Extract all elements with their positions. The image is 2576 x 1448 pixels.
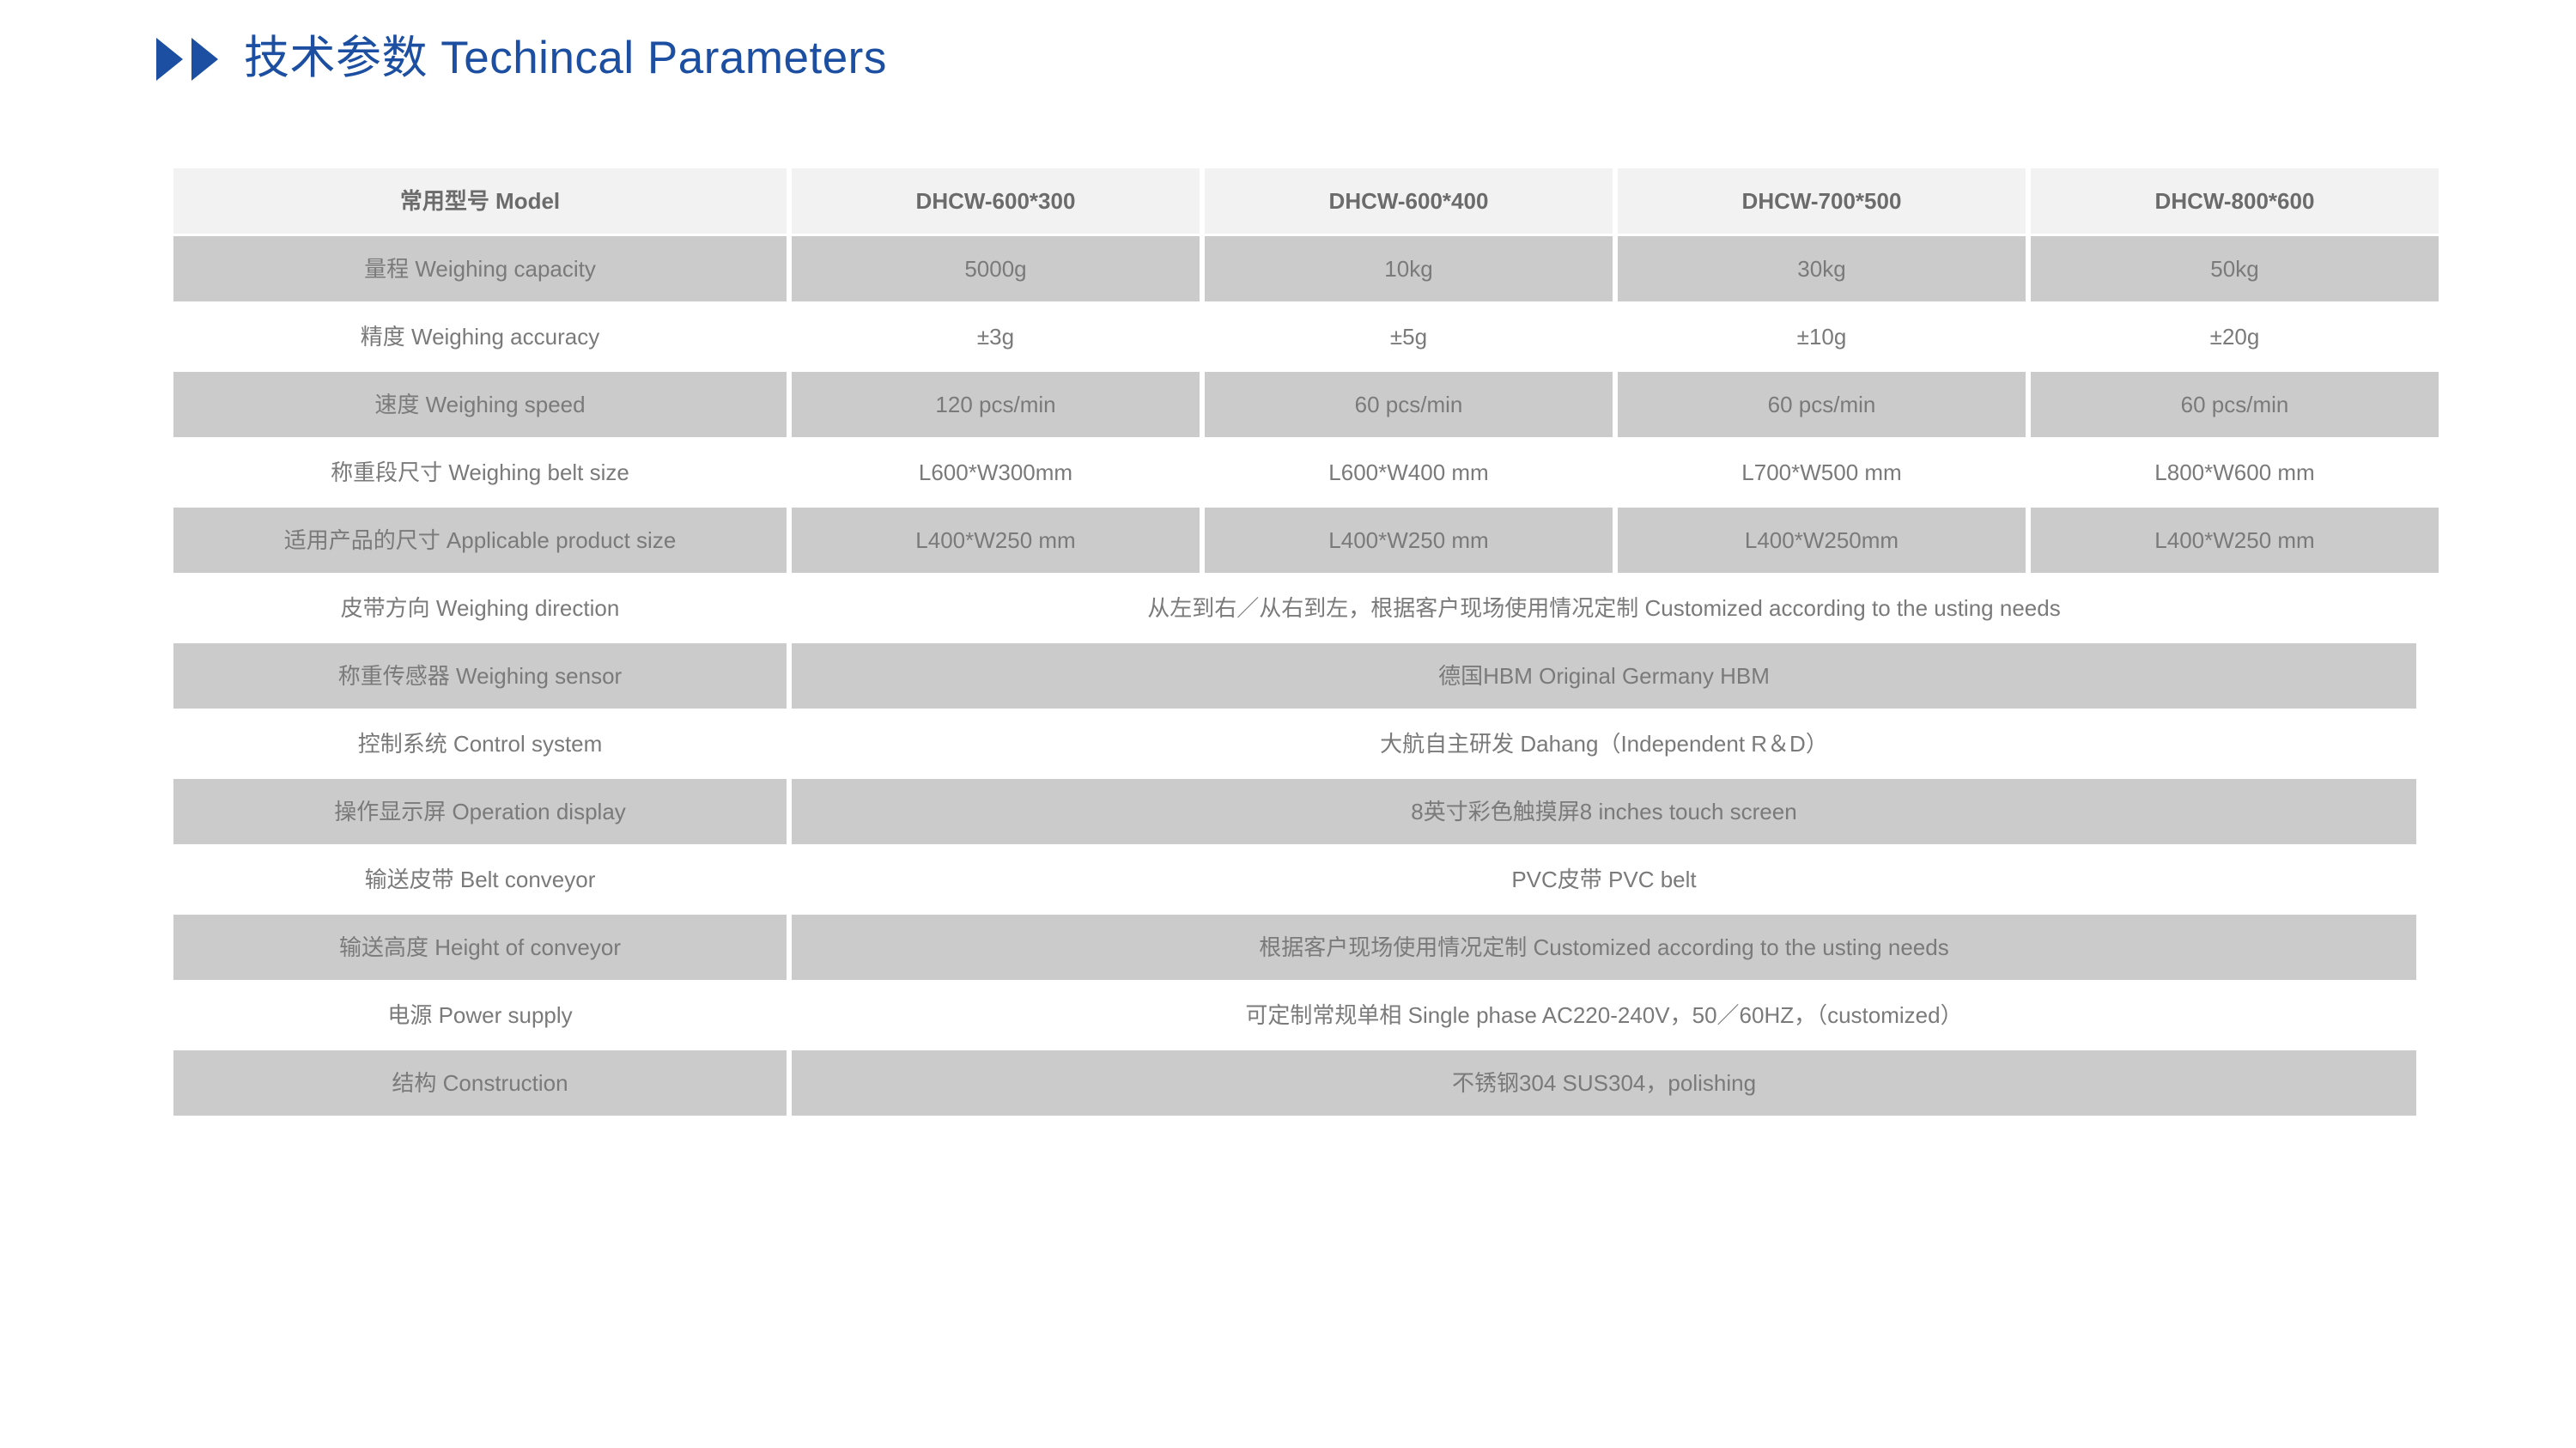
table-row: 电源 Power supply可定制常规单相 Single phase AC22… [173,983,2416,1048]
row-label: 速度 Weighing speed [173,372,787,437]
row-value: 30kg [1618,236,2026,301]
row-label: 控制系统 Control system [173,711,787,776]
page-title-block: 技术参数 Techincal Parameters [156,24,887,91]
table-row: 皮带方向 Weighing direction从左到右／从右到左，根据客户现场使… [173,575,2416,641]
table-row: 称重传感器 Weighing sensor德国HBM Original Germ… [173,643,2416,709]
row-value: L800*W600 mm [2031,440,2439,505]
row-value: L400*W250 mm [792,508,1200,573]
table-row: 称重段尺寸 Weighing belt sizeL600*W300mmL600*… [173,440,2416,505]
row-value: 60 pcs/min [1205,372,1613,437]
row-value: ±3g [792,304,1200,369]
table-row: 结构 Construction不锈钢304 SUS304，polishing [173,1050,2416,1116]
row-merged-value: 从左到右／从右到左，根据客户现场使用情况定制 Customized accord… [792,575,2416,641]
row-value: 60 pcs/min [1618,372,2026,437]
row-value: L400*W250 mm [1205,508,1613,573]
row-label: 电源 Power supply [173,983,787,1048]
row-label: 称重段尺寸 Weighing belt size [173,440,787,505]
row-value: L400*W250 mm [2031,508,2439,573]
row-merged-value: 根据客户现场使用情况定制 Customized according to the… [792,915,2416,980]
technical-parameters-table: 常用型号 ModelDHCW-600*300DHCW-600*400DHCW-7… [173,168,2416,1118]
table-row: 速度 Weighing speed120 pcs/min60 pcs/min60… [173,372,2416,437]
table-row: 精度 Weighing accuracy±3g±5g±10g±20g [173,304,2416,369]
table-row: 操作显示屏 Operation display8英寸彩色触摸屏8 inches … [173,779,2416,844]
row-label: 精度 Weighing accuracy [173,304,787,369]
row-value: 5000g [792,236,1200,301]
row-label: 输送高度 Height of conveyor [173,915,787,980]
row-label: 皮带方向 Weighing direction [173,575,787,641]
column-header-1: DHCW-600*300 [792,168,1200,234]
row-value: L700*W500 mm [1618,440,2026,505]
arrow-marker-group [156,38,218,81]
row-value: 60 pcs/min [2031,372,2439,437]
row-value: 10kg [1205,236,1613,301]
row-label: 适用产品的尺寸 Applicable product size [173,508,787,573]
row-label: 量程 Weighing capacity [173,236,787,301]
table-row: 量程 Weighing capacity5000g10kg30kg50kg [173,236,2416,301]
row-merged-value: 大航自主研发 Dahang（Independent R＆D） [792,711,2416,776]
row-value: L600*W300mm [792,440,1200,505]
table-row: 输送皮带 Belt conveyorPVC皮带 PVC belt [173,847,2416,912]
column-header-4: DHCW-800*600 [2031,168,2439,234]
row-merged-value: 8英寸彩色触摸屏8 inches touch screen [792,779,2416,844]
table-row: 输送高度 Height of conveyor根据客户现场使用情况定制 Cust… [173,915,2416,980]
table-header-row: 常用型号 ModelDHCW-600*300DHCW-600*400DHCW-7… [173,168,2416,234]
row-value: 50kg [2031,236,2439,301]
row-value: ±5g [1205,304,1613,369]
row-value: ±20g [2031,304,2439,369]
column-header-2: DHCW-600*400 [1205,168,1613,234]
row-label: 称重传感器 Weighing sensor [173,643,787,709]
row-value: ±10g [1618,304,2026,369]
row-merged-value: PVC皮带 PVC belt [792,847,2416,912]
table-row: 控制系统 Control system大航自主研发 Dahang（Indepen… [173,711,2416,776]
page-root: 技术参数 Techincal Parameters 常用型号 ModelDHCW… [0,0,2576,1448]
row-value: L400*W250mm [1618,508,2026,573]
row-value: 120 pcs/min [792,372,1200,437]
row-value: L600*W400 mm [1205,440,1613,505]
column-header-3: DHCW-700*500 [1618,168,2026,234]
column-header-model: 常用型号 Model [173,168,787,234]
row-merged-value: 可定制常规单相 Single phase AC220-240V，50／60HZ，… [792,983,2416,1048]
row-label: 操作显示屏 Operation display [173,779,787,844]
row-merged-value: 不锈钢304 SUS304，polishing [792,1050,2416,1116]
page-title: 技术参数 Techincal Parameters [244,35,887,81]
triangle-right-icon [191,38,218,81]
row-label: 结构 Construction [173,1050,787,1116]
row-merged-value: 德国HBM Original Germany HBM [792,643,2416,709]
table-row: 适用产品的尺寸 Applicable product sizeL400*W250… [173,508,2416,573]
triangle-right-icon [156,38,183,81]
row-label: 输送皮带 Belt conveyor [173,847,787,912]
